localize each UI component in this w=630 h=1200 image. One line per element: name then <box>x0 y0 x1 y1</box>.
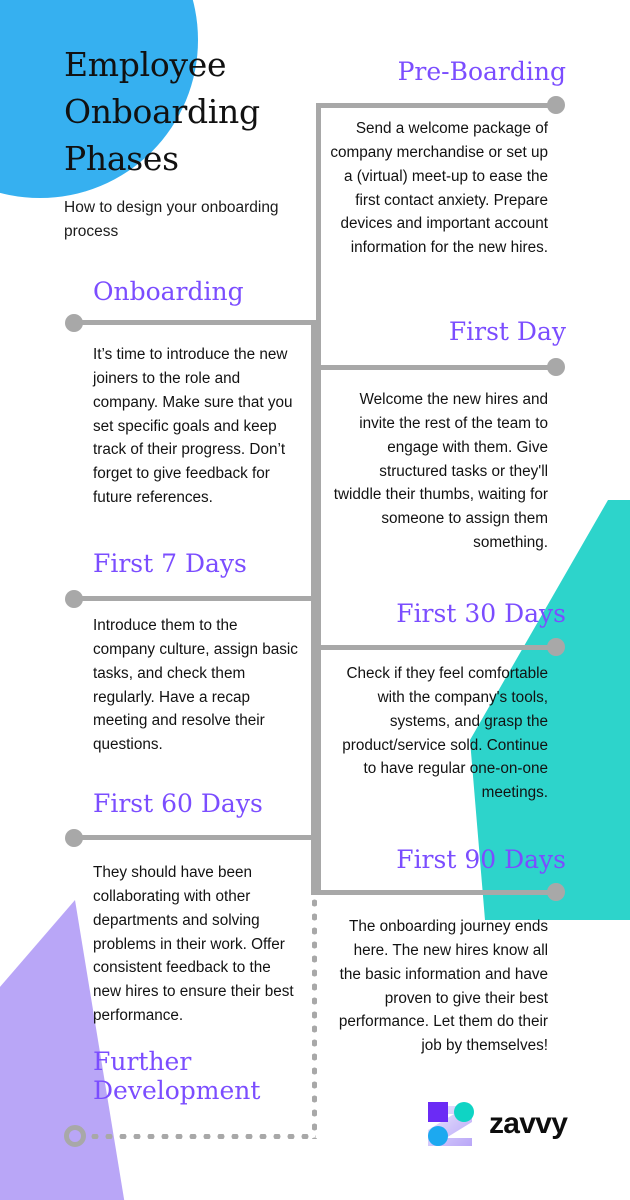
phase-pre-boarding: Pre-Boarding <box>330 58 566 87</box>
page-header: Employee Onboarding Phases How to design… <box>64 42 314 244</box>
phase-first-day: First Day <box>330 318 566 347</box>
knob-first-90-days <box>547 883 565 901</box>
phase-title-first-90-days: First 90 Days <box>330 846 566 875</box>
knob-first-60-days <box>65 829 83 847</box>
phase-body-wrap-first-7-days: Introduce them to the company culture, a… <box>93 614 301 757</box>
phase-body-first-30-days: Check if they feel comfortable with the … <box>330 662 548 805</box>
knob-first-7-days <box>65 590 83 608</box>
right-column-vertical-rail <box>316 103 321 891</box>
page-title-line-2: Onboarding <box>64 92 260 131</box>
phase-body-first-7-days: Introduce them to the company culture, a… <box>93 614 301 757</box>
phase-title-further-development-line-2: Development <box>93 1076 260 1105</box>
phase-title-further-development: Further Development <box>93 1048 323 1106</box>
phase-further-development: Further Development <box>93 1048 323 1106</box>
phase-body-wrap-first-90-days: The onboarding journey ends here. The ne… <box>330 915 548 1058</box>
phase-body-wrap-onboarding: It’s time to introduce the new joiners t… <box>93 343 301 510</box>
phase-body-first-90-days: The onboarding journey ends here. The ne… <box>330 915 548 1058</box>
phase-title-pre-boarding: Pre-Boarding <box>330 58 566 87</box>
phase-first-30-days: First 30 Days <box>330 600 566 629</box>
connector-first-90-days <box>316 890 560 895</box>
knob-onboarding <box>65 314 83 332</box>
phase-onboarding: Onboarding <box>93 278 323 307</box>
phase-body-wrap-first-30-days: Check if they feel comfortable with the … <box>330 662 548 805</box>
connector-pre-boarding <box>316 103 560 108</box>
phase-title-first-60-days: First 60 Days <box>93 790 323 819</box>
connector-first-30-days <box>316 645 560 650</box>
connector-first-7-days <box>74 596 316 601</box>
page-subtitle: How to design your onboarding process <box>64 196 314 244</box>
phase-body-wrap-first-day: Welcome the new hires and invite the res… <box>330 388 548 555</box>
page-title: Employee Onboarding Phases <box>64 42 314 183</box>
phase-first-7-days: First 7 Days <box>93 550 323 579</box>
connector-first-day <box>316 365 560 370</box>
connector-further-development <box>88 1134 316 1139</box>
phase-first-60-days: First 60 Days <box>93 790 323 819</box>
phase-first-90-days: First 90 Days <box>330 846 566 875</box>
phase-body-pre-boarding: Send a welcome package of company mercha… <box>330 117 548 260</box>
zavvy-z-mark-icon <box>424 1098 476 1150</box>
connector-onboarding <box>74 320 316 325</box>
phase-title-onboarding: Onboarding <box>93 278 323 307</box>
phase-title-first-day: First Day <box>330 318 566 347</box>
phase-body-wrap-first-60-days: They should have been collaborating with… <box>93 861 301 1028</box>
page-title-line-1: Employee <box>64 45 226 84</box>
phase-body-first-day: Welcome the new hires and invite the res… <box>330 388 548 555</box>
knob-first-30-days <box>547 638 565 656</box>
connector-first-60-days <box>74 835 316 840</box>
phase-body-onboarding: It’s time to introduce the new joiners t… <box>93 343 301 510</box>
phase-body-first-60-days: They should have been collaborating with… <box>93 861 301 1028</box>
zavvy-wordmark: zavvy <box>489 1107 567 1141</box>
knob-further-development <box>64 1125 86 1147</box>
phase-title-further-development-line-1: Further <box>93 1047 191 1076</box>
page-title-line-3: Phases <box>64 139 179 178</box>
phase-title-first-7-days: First 7 Days <box>93 550 323 579</box>
zavvy-logo: zavvy <box>424 1098 567 1150</box>
infographic-canvas: Employee Onboarding Phases How to design… <box>0 0 630 1200</box>
phase-body-wrap-pre-boarding: Send a welcome package of company mercha… <box>330 117 548 260</box>
phase-title-first-30-days: First 30 Days <box>330 600 566 629</box>
knob-pre-boarding <box>547 96 565 114</box>
knob-first-day <box>547 358 565 376</box>
